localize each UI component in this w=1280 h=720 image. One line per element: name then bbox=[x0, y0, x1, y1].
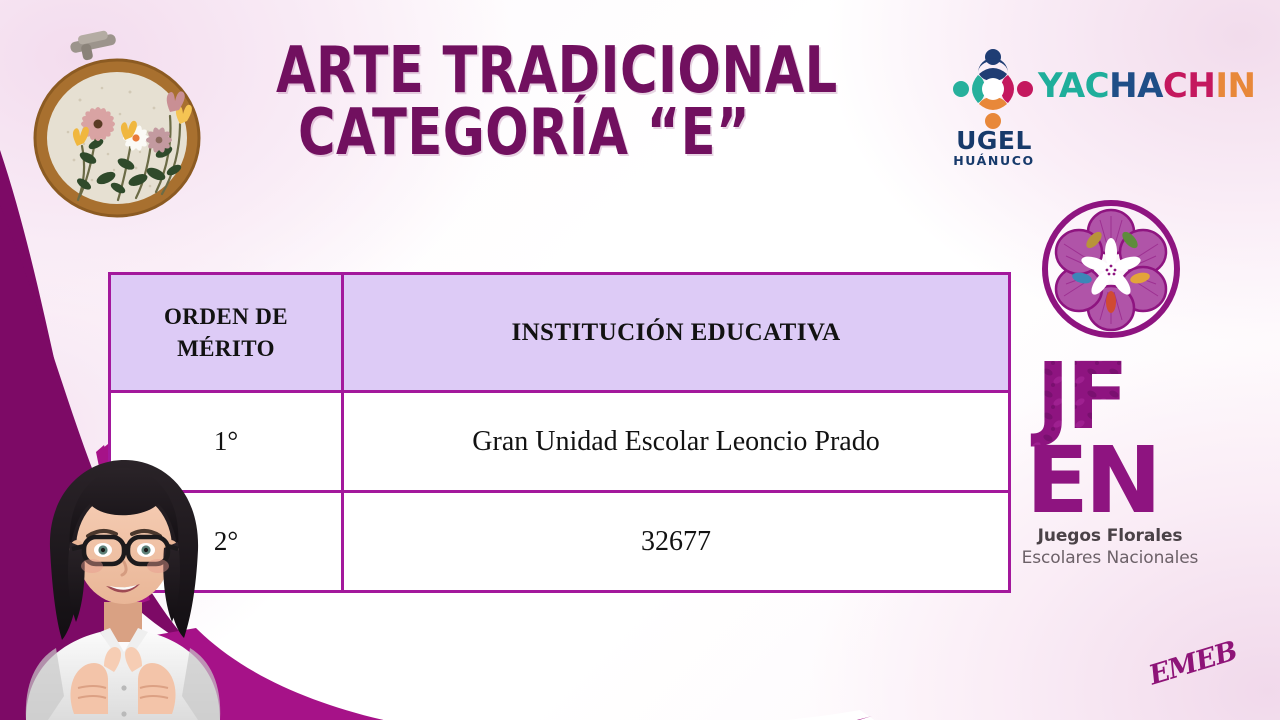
jfen-caption-line-2: Escolares Nacionales bbox=[1012, 547, 1208, 569]
yachachin-seg-3: CH bbox=[1163, 66, 1215, 106]
yachachin-seg-4: IN bbox=[1215, 66, 1255, 106]
ugel-center-hole bbox=[982, 78, 1004, 100]
table-header-row: ORDEN DE MÉRITO INSTITUCIÓN EDUCATIVA bbox=[110, 274, 1010, 392]
swoosh-light-shape-2 bbox=[150, 640, 890, 720]
ugel-figure-bottom bbox=[979, 97, 1007, 129]
ugel-yachachin-logo: UGEL HUÁNUCO YACHACHIN bbox=[930, 44, 1230, 174]
ugel-figure-left bbox=[953, 75, 985, 103]
table-row: 2° 32677 bbox=[110, 492, 1010, 592]
avatar-blush-left bbox=[81, 559, 103, 573]
yachachin-seg-2: HA bbox=[1109, 66, 1163, 106]
title-line-2: CATEGORÍA “E” bbox=[276, 104, 772, 164]
column-header-institucion-educativa: INSTITUCIÓN EDUCATIVA bbox=[343, 274, 1010, 392]
title-line-1: ARTE TRADICIONAL bbox=[276, 42, 772, 102]
swoosh-light-shape bbox=[150, 628, 872, 720]
cell-institucion-1: Gran Unidad Escolar Leoncio Prado bbox=[343, 392, 1010, 492]
slide-title: ARTE TRADICIONAL CATEGORÍA “E” bbox=[214, 42, 834, 163]
jfen-flower-emblem-icon bbox=[1038, 196, 1184, 342]
embroidery-hoop-illustration bbox=[22, 28, 212, 224]
presenter-avatar-illustration bbox=[8, 452, 236, 720]
results-table-head: ORDEN DE MÉRITO INSTITUCIÓN EDUCATIVA bbox=[110, 274, 1010, 392]
column-header-orden-de-merito: ORDEN DE MÉRITO bbox=[110, 274, 343, 392]
jfen-letters-line-2: EN bbox=[1026, 427, 1158, 522]
ugel-people-circle-icon bbox=[948, 44, 1038, 134]
yachachin-wordmark: YACHACHIN bbox=[1038, 66, 1255, 106]
slide-canvas: ARTE TRADICIONAL CATEGORÍA “E” bbox=[0, 0, 1280, 720]
author-signature: EMEB bbox=[1145, 636, 1240, 692]
results-table-body: 1° Gran Unidad Escolar Leoncio Prado 2° … bbox=[110, 392, 1010, 592]
avatar-shirt-button-2 bbox=[121, 711, 126, 716]
jfen-caption-line-1: Juegos Florales bbox=[1012, 526, 1208, 547]
avatar-shirt-button-1 bbox=[121, 685, 126, 690]
column-header-line-2: MÉRITO bbox=[177, 336, 275, 361]
avatar-blush-right bbox=[147, 559, 169, 573]
yachachin-seg-1: YAC bbox=[1038, 66, 1109, 106]
ugel-figure-top bbox=[978, 49, 1008, 81]
jfen-monogram: JF EN bbox=[1020, 344, 1200, 522]
hoop-clamp bbox=[69, 30, 116, 61]
ugel-figure-right bbox=[1001, 75, 1033, 103]
table-row: 1° Gran Unidad Escolar Leoncio Prado bbox=[110, 392, 1010, 492]
jfen-caption: Juegos Florales Escolares Nacionales bbox=[1012, 526, 1208, 569]
ugel-name: UGEL bbox=[944, 128, 1044, 153]
results-table: ORDEN DE MÉRITO INSTITUCIÓN EDUCATIVA 1°… bbox=[108, 272, 1011, 593]
cell-institucion-2: 32677 bbox=[343, 492, 1010, 592]
ugel-wordmark: UGEL HUÁNUCO bbox=[944, 128, 1044, 170]
column-header-line-1: ORDEN DE bbox=[164, 304, 288, 329]
jfen-logo: JF EN Juegos Florales Escolares Nacional… bbox=[1012, 196, 1208, 576]
ugel-region: HUÁNUCO bbox=[944, 153, 1044, 170]
